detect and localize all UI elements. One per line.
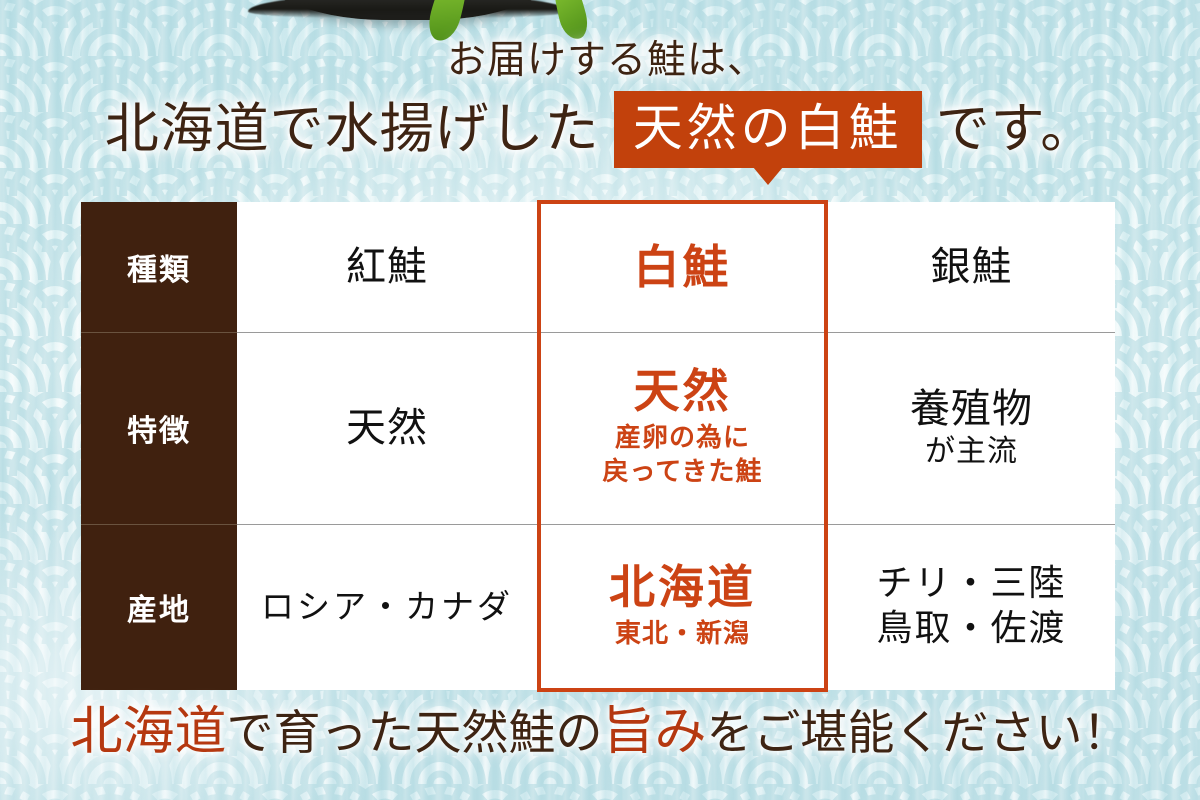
callout-badge-natural-white-salmon: 天然の白鮭 bbox=[614, 91, 922, 168]
tagline-segment-middle: で育った天然鮭の bbox=[227, 706, 603, 761]
table-cell-feature-beni: 天然 bbox=[237, 332, 537, 524]
cell-value: 紅鮭 bbox=[346, 244, 428, 290]
row-label-origin: 産地 bbox=[127, 585, 191, 629]
salmon-comparison-table: 種類 紅鮭 白鮭 銀鮭 特徴 天然 天然 産卵の為に 戻ってきた鮭 養殖物 が主… bbox=[81, 202, 1115, 690]
footer-tagline: 北海道で育った天然鮭の旨みをご堪能ください！ bbox=[0, 706, 1200, 758]
table-row-header-feature: 特徴 bbox=[81, 332, 237, 524]
headline-line-1: お届けする鮭は、 bbox=[0, 29, 1200, 85]
cell-value-highlight: 白鮭 bbox=[634, 242, 732, 293]
headline-line-2: 北海道で水揚げした 天然の白鮭 です。 bbox=[0, 90, 1200, 168]
cell-value: 天然 bbox=[346, 405, 428, 451]
table-cell-origin-gin: チリ・三陸 鳥取・佐渡 bbox=[828, 524, 1115, 690]
headline-line-1-text: お届けする鮭は、 bbox=[447, 29, 767, 85]
cell-value-highlight: 北海道 bbox=[609, 562, 756, 613]
row-label-feature: 特徴 bbox=[127, 406, 191, 450]
cell-value: 養殖物 bbox=[910, 386, 1033, 432]
page-stage: お届けする鮭は、 北海道で水揚げした 天然の白鮭 です。 種類 紅鮭 白鮭 銀鮭… bbox=[0, 0, 1200, 800]
table-cell-origin-beni: ロシア・カナダ bbox=[237, 524, 537, 690]
headline-suffix-text: です。 bbox=[936, 90, 1096, 168]
bowl-rim-decoration-icon bbox=[248, 0, 568, 18]
cell-subvalue: が主流 bbox=[925, 435, 1018, 470]
row-label-type: 種類 bbox=[127, 245, 191, 289]
headline-prefix-text: 北海道で水揚げした bbox=[105, 90, 600, 168]
table-cell-type-gin: 銀鮭 bbox=[828, 202, 1115, 332]
cell-subvalue-highlight-line1: 産卵の為に bbox=[615, 422, 750, 456]
cell-value-line1: チリ・三陸 bbox=[876, 562, 1066, 607]
cell-value-line2: 鳥取・佐渡 bbox=[876, 607, 1066, 652]
table-cell-origin-shiro: 北海道 東北・新潟 bbox=[537, 524, 828, 690]
tagline-segment-end: をご堪能ください！ bbox=[707, 706, 1130, 761]
cell-subvalue-highlight-line2: 戻ってきた鮭 bbox=[603, 456, 763, 490]
tagline-segment-umami: 旨み bbox=[603, 702, 707, 762]
cell-value: ロシア・カナダ bbox=[261, 588, 513, 626]
table-row-header-type: 種類 bbox=[81, 202, 237, 332]
table-cell-feature-gin: 養殖物 が主流 bbox=[828, 332, 1115, 524]
tagline-segment-hokkaido: 北海道 bbox=[70, 702, 226, 762]
table-cell-type-shiro: 白鮭 bbox=[537, 202, 828, 332]
cell-value-highlight: 天然 bbox=[634, 366, 732, 417]
table-cell-feature-shiro: 天然 産卵の為に 戻ってきた鮭 bbox=[537, 332, 828, 524]
table-row-header-origin: 産地 bbox=[81, 524, 237, 690]
table-cell-type-beni: 紅鮭 bbox=[237, 202, 537, 332]
cell-value: 銀鮭 bbox=[931, 244, 1013, 290]
cell-subvalue-highlight: 東北・新潟 bbox=[615, 618, 750, 652]
